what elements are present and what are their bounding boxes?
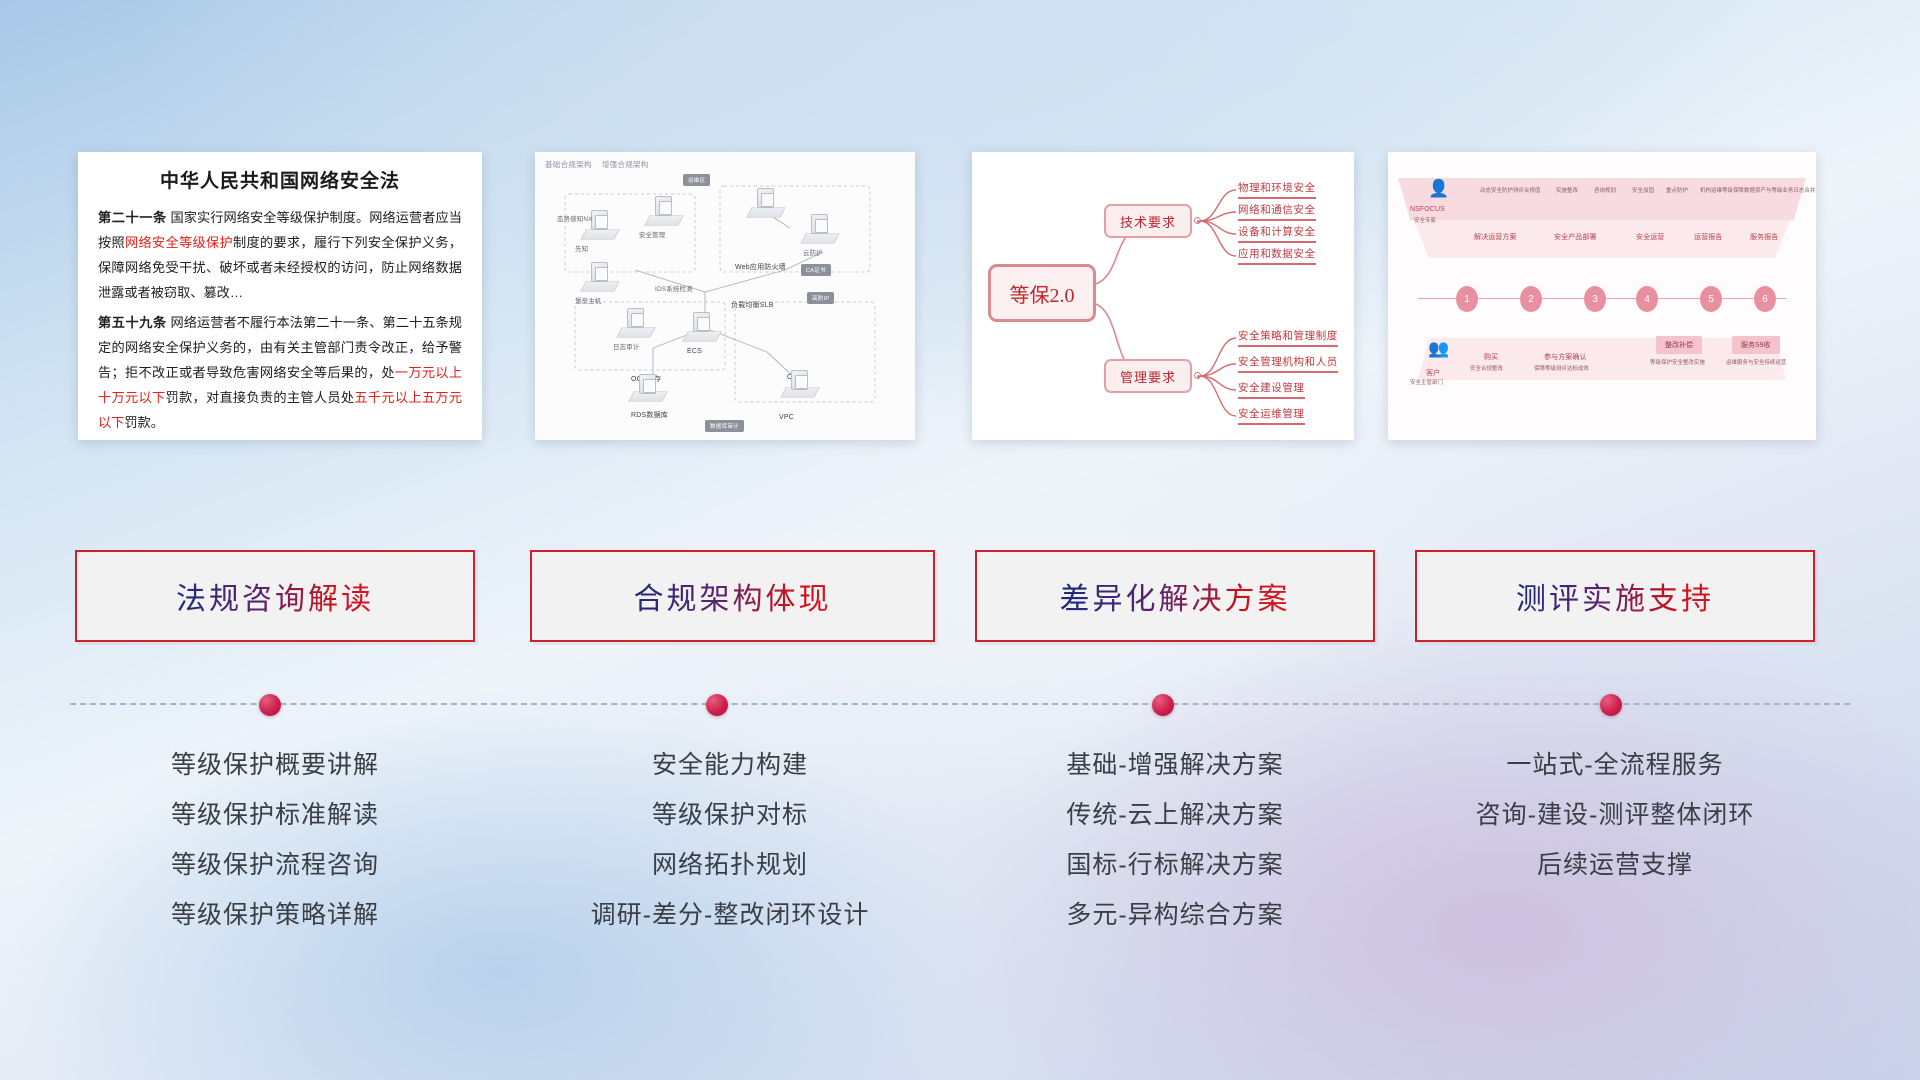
roadmap-brand: NSFOCUS xyxy=(1410,206,1445,213)
roadmap-step-4[interactable]: 4 xyxy=(1636,286,1658,312)
list-item: 传统-云上解决方案 xyxy=(985,790,1365,840)
roadmap-tag-service-sub: 运维服务与安全持续运营 xyxy=(1726,358,1786,366)
mindmap-leaf-device: 设备和计算安全 xyxy=(1238,224,1316,243)
mindmap-leaf-ops: 安全运维管理 xyxy=(1238,406,1305,425)
list-item: 一站式-全流程服务 xyxy=(1420,740,1810,790)
list-item: 调研-差分-整改闭环设计 xyxy=(535,890,925,940)
list-item: 安全能力构建 xyxy=(535,740,925,790)
list-item: 等级保护策略详解 xyxy=(90,890,460,940)
detail-column-regulation: 等级保护概要讲解 等级保护标准解读 等级保护流程咨询 等级保护策略详解 xyxy=(90,740,460,940)
timeline-dashed-line xyxy=(70,703,1850,705)
roadmap-tag-rectify-sub: 等级保护安全整改实施 xyxy=(1650,358,1705,366)
headline-label-regulation: 法规咨询解读 xyxy=(176,574,374,618)
roadmap-step-2[interactable]: 2 xyxy=(1520,286,1542,312)
timeline-dot-1[interactable] xyxy=(259,694,281,716)
card-cloud-architecture[interactable]: 基础合规架构增强合规架构 xyxy=(535,152,915,440)
list-item: 后续运营支撑 xyxy=(1420,840,1810,890)
roadmap-band-label-3: 安全运营 xyxy=(1636,232,1664,242)
roadmap-tag-service[interactable]: 服务S9收 xyxy=(1732,336,1780,354)
reference-card-row: 中华人民共和国网络安全法 第二十一条 国家实行网络安全等级保护制度。网络运营者应… xyxy=(0,152,1920,442)
mindmap-diagram: 等保2.0 技术要求 物理和环境安全 网络和通信安全 设备和计算安全 应用和数据… xyxy=(972,152,1354,440)
roadmap-band-second xyxy=(1414,220,1790,258)
server-icon-1 xyxy=(591,210,608,230)
roadmap-bottom-mid: 参与方案确认 xyxy=(1544,352,1587,362)
detail-column-architecture: 安全能力构建 等级保护对标 网络拓扑规划 调研-差分-整改闭环设计 xyxy=(535,740,925,940)
mindmap-leaf-policy: 安全策略和管理制度 xyxy=(1238,328,1338,347)
roadmap-step-6[interactable]: 6 xyxy=(1754,286,1776,312)
mindmap-leaf-org: 安全管理机构和人员 xyxy=(1238,354,1338,373)
headline-box-architecture[interactable]: 合规架构体现 xyxy=(530,550,935,642)
law-title: 中华人民共和国网络安全法 xyxy=(98,166,462,193)
roadmap-top-label-6: 机构运维等级保障 xyxy=(1700,186,1744,194)
node-label-slb: 负载均衡SLB xyxy=(731,300,774,310)
roadmap-step-5[interactable]: 5 xyxy=(1700,286,1722,312)
roadmap-step-3[interactable]: 3 xyxy=(1584,286,1606,312)
node-label-secmgmt: 安全管理 xyxy=(639,230,665,239)
roadmap-top-label-5: 重点防护 xyxy=(1666,186,1688,194)
detail-column-solution: 基础-增强解决方案 传统-云上解决方案 国标-行标解决方案 多元-异构综合方案 xyxy=(985,740,1365,940)
roadmap-diagram: 👤 NSFOCUS 安全专家 动态安全防护测评合规值 实施整改 咨询规划 安全加… xyxy=(1388,152,1816,440)
roadmap-tag-rectify[interactable]: 整改补偿 xyxy=(1656,336,1702,354)
iso-plate-3 xyxy=(580,281,620,292)
node-label-waf: Web应用防火墙 xyxy=(735,262,786,272)
list-item: 等级保护概要讲解 xyxy=(90,740,460,790)
list-item: 等级保护对标 xyxy=(535,790,925,840)
list-item: 国标-行标解决方案 xyxy=(985,840,1365,890)
card-mindmap-dengbao[interactable]: 等保2.0 技术要求 物理和环境安全 网络和通信安全 设备和计算安全 应用和数据… xyxy=(972,152,1354,440)
mindmap-branch-management: 管理要求 xyxy=(1104,359,1192,393)
architecture-diagram: 基础合规架构增强合规架构 xyxy=(535,152,915,440)
law-article-21: 第二十一条 国家实行网络安全等级保护制度。网络运营者应当按照网络安全等级保护制度… xyxy=(98,205,462,305)
mindmap-leaf-application: 应用和数据安全 xyxy=(1238,246,1316,265)
timeline-dot-2[interactable] xyxy=(706,694,728,716)
roadmap-top-label-7: 数据资产与等级业务日志合并系统 xyxy=(1744,186,1816,194)
iso-plate-4 xyxy=(616,327,656,338)
node-chip-ca: CA证书 xyxy=(801,264,831,276)
node-chip-dbaudit: 数据库审计 xyxy=(705,420,744,432)
law-article-59: 第五十九条 网络运营者不履行本法第二十一条、第二十五条规定的网络安全保护义务的，… xyxy=(98,310,462,435)
timeline-dot-4[interactable] xyxy=(1600,694,1622,716)
mindmap-leaf-build: 安全建设管理 xyxy=(1238,380,1305,399)
mindmap-leaf-physical: 物理和环境安全 xyxy=(1238,180,1316,199)
roadmap-top-label-3: 咨询规划 xyxy=(1594,186,1616,194)
roadmap-top-label-2: 实施整改 xyxy=(1556,186,1578,194)
mindmap-root-node: 等保2.0 xyxy=(988,264,1096,322)
roadmap-bottom-left-sub: 安全合规整改 xyxy=(1470,364,1503,372)
roadmap-bottom-mid-sub: 保障等级测评达标成效 xyxy=(1534,364,1589,372)
mindmap-collapse-dot-technical[interactable] xyxy=(1194,217,1201,224)
headline-label-solution: 差异化解决方案 xyxy=(1060,574,1291,618)
roadmap-band-label-1: 解决运营方案 xyxy=(1474,232,1517,242)
article-59-text-b: 罚款，对直接负责的主管人员处 xyxy=(165,390,354,405)
headline-box-solution[interactable]: 差异化解决方案 xyxy=(975,550,1375,642)
roadmap-bottom-left: 购买 xyxy=(1484,352,1498,362)
mindmap-collapse-dot-management[interactable] xyxy=(1194,372,1201,379)
list-item: 等级保护流程咨询 xyxy=(90,840,460,890)
roadmap-band-label-5: 服务报告 xyxy=(1750,232,1778,242)
roadmap-top-label-4: 安全加固 xyxy=(1632,186,1654,194)
list-item: 咨询-建设-测评整体闭环 xyxy=(1420,790,1810,840)
roadmap-brand-sub: 安全专家 xyxy=(1414,216,1436,224)
node-label-bastion: 堡垒主机 xyxy=(575,296,601,305)
node-label-vpc: VPC xyxy=(779,414,794,421)
iso-plate-5 xyxy=(800,233,840,244)
iso-plate-6 xyxy=(746,207,786,218)
list-item: 等级保护标准解读 xyxy=(90,790,460,840)
server-icon-6 xyxy=(757,188,774,208)
timeline-dot-3[interactable] xyxy=(1152,694,1174,716)
roadmap-customer: 客户 xyxy=(1426,368,1440,378)
server-icon-5 xyxy=(811,214,828,234)
roadmap-band-label-4: 运营报告 xyxy=(1694,232,1722,242)
node-label-logaudit: 日志审计 xyxy=(613,342,639,351)
mindmap-branch-technical: 技术要求 xyxy=(1104,204,1192,238)
server-icon-4 xyxy=(627,308,644,328)
law-body: 中华人民共和国网络安全法 第二十一条 国家实行网络安全等级保护制度。网络运营者应… xyxy=(78,152,482,440)
customer-avatar-icon: 👥 xyxy=(1428,340,1449,357)
roadmap-step-1[interactable]: 1 xyxy=(1456,286,1478,312)
node-label-situation: 态势感知NX xyxy=(557,214,593,223)
card-service-roadmap[interactable]: 👤 NSFOCUS 安全专家 动态安全防护测评合规值 实施整改 咨询规划 安全加… xyxy=(1388,152,1816,440)
detail-column-evaluation: 一站式-全流程服务 咨询-建设-测评整体闭环 后续运营支撑 xyxy=(1420,740,1810,890)
headline-label-architecture: 合规架构体现 xyxy=(634,574,832,618)
timeline xyxy=(0,694,1920,714)
list-item: 多元-异构综合方案 xyxy=(985,890,1365,940)
node-label-ecs: ECS xyxy=(687,348,702,355)
server-icon-ecs xyxy=(693,312,710,332)
article-59-label: 第五十九条 xyxy=(98,315,167,330)
server-icon-8 xyxy=(791,370,808,390)
roadmap-band-label-2: 安全产品部署 xyxy=(1554,232,1597,242)
headline-box-regulation[interactable]: 法规咨询解读 xyxy=(75,550,475,642)
article-21-label: 第二十一条 xyxy=(98,210,167,225)
iso-plate-1 xyxy=(580,229,620,240)
iso-plate-2 xyxy=(644,215,684,226)
server-icon-2 xyxy=(655,196,672,216)
node-label-xianzhi: 先知 xyxy=(575,244,588,253)
server-icon-3 xyxy=(591,262,608,282)
server-icon-7 xyxy=(639,374,656,394)
headline-label-evaluation: 测评实施支持 xyxy=(1516,574,1714,618)
iso-plate-ecs xyxy=(682,331,722,342)
roadmap-top-label-1: 动态安全防护测评合规值 xyxy=(1480,186,1540,194)
list-item: 网络拓扑规划 xyxy=(535,840,925,890)
node-label-cloudprotect: 云防护 xyxy=(803,248,823,257)
article-59-text-c: 罚款。 xyxy=(124,415,164,430)
expert-avatar-icon: 👤 xyxy=(1428,180,1449,197)
roadmap-customer-sub: 安全主管部门 xyxy=(1410,378,1443,386)
node-chip-antiddos: 高防IP xyxy=(807,292,834,304)
roadmap-band-top xyxy=(1398,178,1806,220)
node-chip-ops: 运维区 xyxy=(683,174,710,186)
headline-box-evaluation[interactable]: 测评实施支持 xyxy=(1415,550,1815,642)
node-label-ids: IDS系统检测 xyxy=(655,284,693,293)
node-label-rds: RDS数据库 xyxy=(631,410,668,420)
mindmap-leaf-network: 网络和通信安全 xyxy=(1238,202,1316,221)
headline-row: 法规咨询解读 合规架构体现 差异化解决方案 测评实施支持 xyxy=(0,550,1920,646)
article-21-highlight: 网络安全等级保护 xyxy=(125,235,233,250)
card-cybersecurity-law[interactable]: 中华人民共和国网络安全法 第二十一条 国家实行网络安全等级保护制度。网络运营者应… xyxy=(78,152,482,440)
list-item: 基础-增强解决方案 xyxy=(985,740,1365,790)
